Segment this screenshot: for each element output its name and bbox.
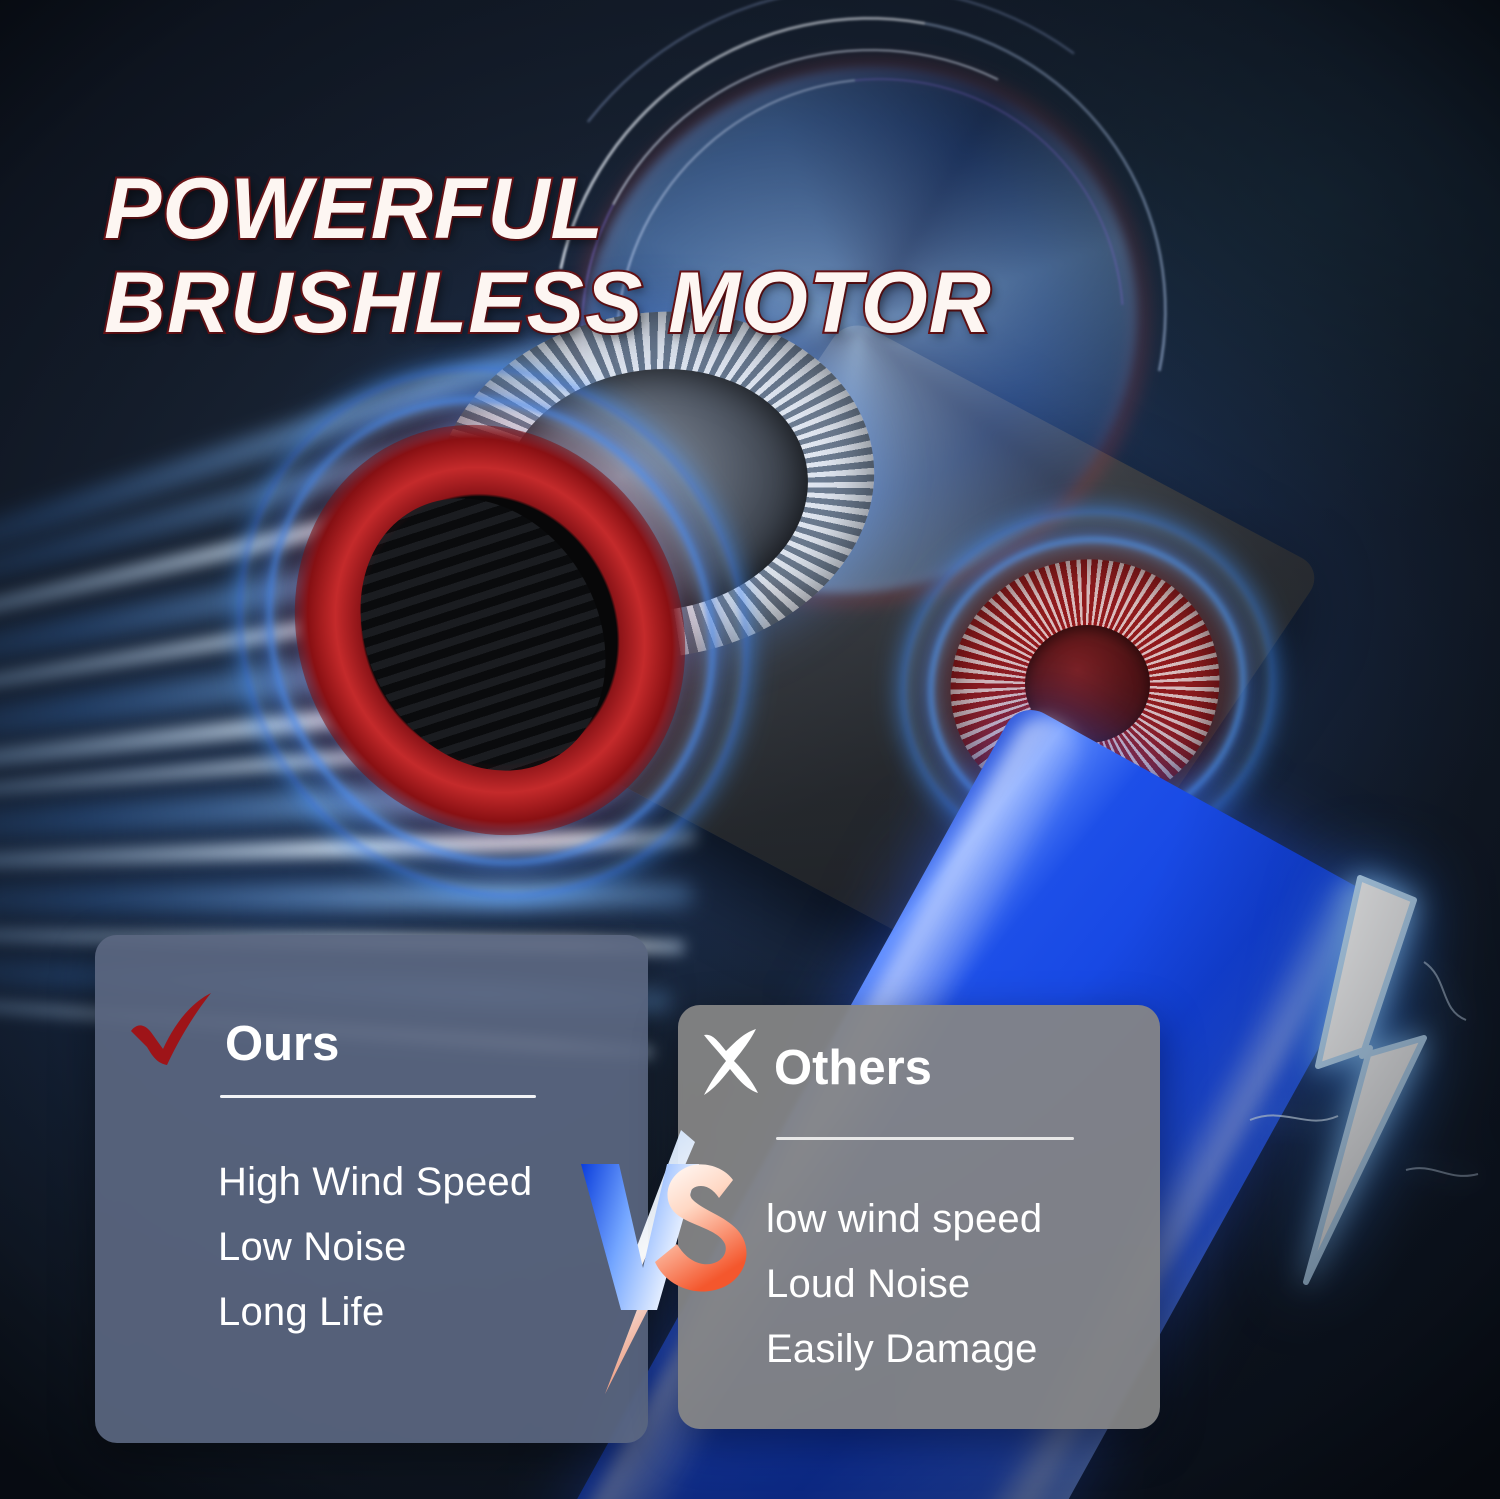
vs-badge [573, 1128, 763, 1398]
ours-heading-rule [220, 1095, 536, 1098]
lightning-bolt-icon [1210, 870, 1500, 1290]
others-feature-item: low wind speed [766, 1187, 1042, 1252]
title-line-1: POWERFUL [104, 161, 604, 257]
ours-feature-item: Long Life [218, 1280, 532, 1345]
product-hero-banner: POWERFUL BRUSHLESS MOTOR Ours High Wind … [0, 0, 1500, 1499]
ours-feature-list: High Wind Speed Low Noise Long Life [218, 1150, 532, 1344]
x-mark-icon [692, 1023, 770, 1101]
ours-feature-item: High Wind Speed [218, 1150, 532, 1215]
check-mark-icon [123, 987, 219, 1073]
others-card-header: Others [692, 1023, 932, 1101]
comparison-card-ours[interactable]: Ours High Wind Speed Low Noise Long Life [95, 935, 648, 1443]
others-feature-list: low wind speed Loud Noise Easily Damage [766, 1187, 1042, 1381]
page-title: POWERFUL BRUSHLESS MOTOR [104, 162, 1224, 351]
title-line-2: BRUSHLESS MOTOR [104, 256, 1224, 351]
others-heading-rule [776, 1137, 1074, 1140]
others-feature-item: Easily Damage [766, 1317, 1042, 1382]
ours-feature-item: Low Noise [218, 1215, 532, 1280]
ours-card-header: Ours [123, 987, 339, 1073]
others-feature-item: Loud Noise [766, 1252, 1042, 1317]
others-heading: Others [774, 1044, 932, 1101]
ours-heading: Ours [225, 1020, 339, 1073]
